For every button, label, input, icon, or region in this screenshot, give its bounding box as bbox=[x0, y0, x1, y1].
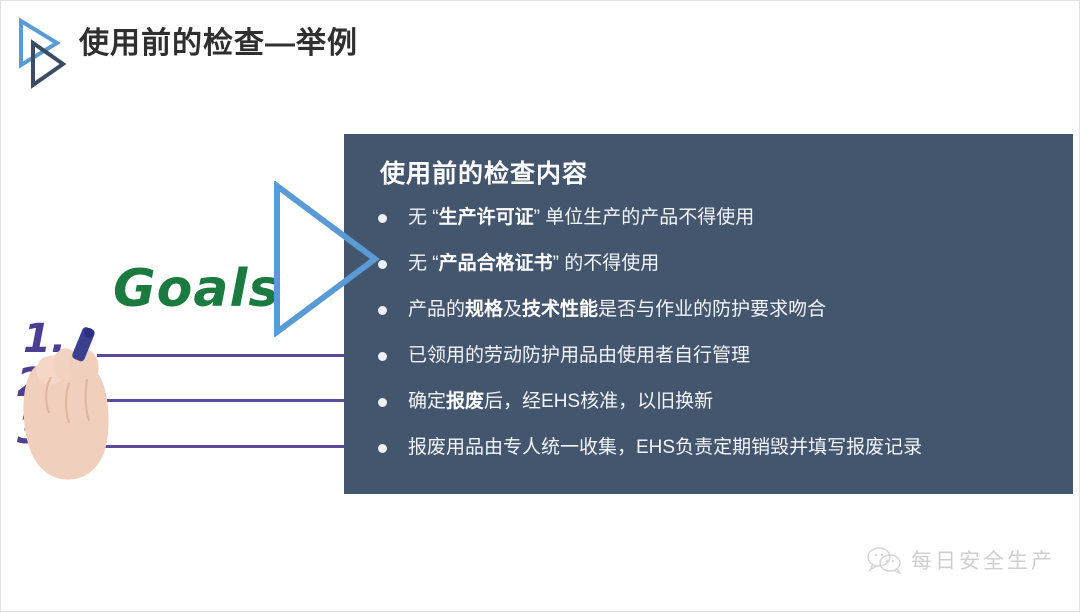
list-item: 已领用的劳动防护用品由使用者自行管理 bbox=[374, 344, 1064, 368]
list-item-text: 产品的规格及技术性能是否与作业的防护要求吻合 bbox=[408, 299, 826, 320]
content-panel-heading: 使用前的检查内容 bbox=[380, 154, 588, 190]
check-content-panel: 使用前的检查内容 无 “生产许可证” 单位生产的产品不得使用 无 “产品合格证书… bbox=[344, 134, 1073, 494]
watermark: 每日安全生产 bbox=[867, 545, 1055, 575]
slide-canvas: 使用前的检查—举例 Goals 1. 2. 3. bbox=[0, 0, 1080, 612]
wechat-icon bbox=[867, 546, 901, 574]
double-triangle-logo-icon bbox=[13, 15, 69, 91]
watermark-text: 每日安全生产 bbox=[911, 545, 1055, 575]
bullet-dot-icon bbox=[378, 444, 387, 453]
bullet-dot-icon bbox=[378, 398, 387, 407]
list-item-text: 无 “产品合格证书” 的不得使用 bbox=[408, 253, 659, 274]
list-item-text: 确定报废后，经EHS核准，以旧换新 bbox=[408, 391, 713, 412]
list-item: 确定报废后，经EHS核准，以旧换新 bbox=[374, 390, 1064, 414]
check-items-list: 无 “生产许可证” 单位生产的产品不得使用 无 “产品合格证书” 的不得使用 产… bbox=[374, 206, 1064, 482]
slide-header: 使用前的检查—举例 bbox=[1, 1, 1080, 113]
right-triangle-outline-icon bbox=[272, 181, 380, 337]
goals-word-label: Goals bbox=[113, 259, 280, 319]
list-item: 无 “产品合格证书” 的不得使用 bbox=[374, 252, 1064, 276]
list-item-text: 无 “生产许可证” 单位生产的产品不得使用 bbox=[408, 207, 754, 228]
goal-rule-1 bbox=[97, 354, 344, 357]
page-title: 使用前的检查—举例 bbox=[79, 23, 358, 65]
list-item: 报废用品由专人统一收集，EHS负责定期销毁并填写报废记录 bbox=[374, 436, 1064, 460]
list-item-text: 报废用品由专人统一收集，EHS负责定期销毁并填写报废记录 bbox=[408, 437, 922, 458]
hand-holding-marker-photo bbox=[15, 317, 121, 483]
bullet-dot-icon bbox=[378, 352, 387, 361]
list-item-text: 已领用的劳动防护用品由使用者自行管理 bbox=[408, 345, 750, 366]
list-item: 产品的规格及技术性能是否与作业的防护要求吻合 bbox=[374, 298, 1064, 322]
list-item: 无 “生产许可证” 单位生产的产品不得使用 bbox=[374, 206, 1064, 230]
